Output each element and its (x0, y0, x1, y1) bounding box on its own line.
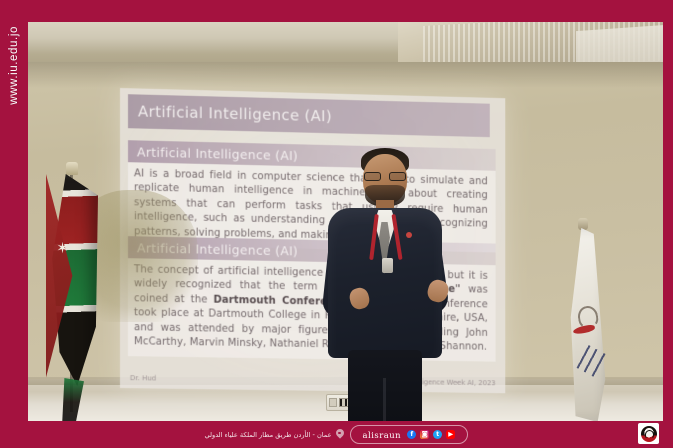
slide-footer-left: Dr. Hud (130, 374, 156, 382)
jordan-flag-tail (56, 378, 84, 421)
frame-right-band (663, 0, 673, 448)
section-2-header-text: Artificial Intelligence (AI) (137, 240, 298, 258)
social-pill: alisraun f ◙ t ▶ (350, 425, 469, 444)
instagram-icon[interactable]: ◙ (420, 430, 430, 440)
address-text: عمان - الأردن طريق مطار الملكة علياء الد… (205, 431, 332, 439)
presenter-leg-seam (383, 378, 386, 421)
frame-left-band (0, 0, 28, 448)
facebook-icon[interactable]: f (407, 430, 417, 440)
slide-title-text: Artificial Intelligence (AI) (138, 102, 332, 125)
seven-pointed-star-icon: ✶ (56, 242, 69, 255)
social-handle: alisraun (363, 430, 401, 440)
university-flag (556, 218, 628, 421)
social-icons: f ◙ t ▶ (407, 430, 456, 440)
presentation-photo: Artificial Intelligence (AI) Artificial … (28, 22, 663, 421)
flag-pole-finial (66, 162, 78, 175)
wall-shadow (28, 62, 663, 88)
id-badge (382, 258, 393, 273)
lapel-pin-icon (406, 232, 412, 238)
jordan-flag: ✶ (40, 162, 102, 421)
university-emblem-icon (641, 426, 657, 442)
youtube-icon[interactable]: ▶ (446, 430, 456, 440)
frame-top-band (0, 0, 673, 22)
screenshot-root: Artificial Intelligence (AI) Artificial … (0, 0, 673, 448)
twitter-icon[interactable]: t (433, 430, 443, 440)
address-block: عمان - الأردن طريق مطار الملكة علياء الد… (205, 429, 344, 440)
glasses-icon (364, 172, 406, 181)
university-flag-finial (578, 218, 588, 230)
footer-bar: عمان - الأردن طريق مطار الملكة علياء الد… (0, 421, 673, 448)
section-1-header-text: Artificial Intelligence (AI) (137, 144, 298, 163)
slide-title-bar: Artificial Intelligence (AI) (128, 94, 490, 137)
location-pin-icon (336, 429, 344, 440)
university-logo-badge[interactable] (638, 423, 659, 444)
presenter (320, 140, 450, 421)
